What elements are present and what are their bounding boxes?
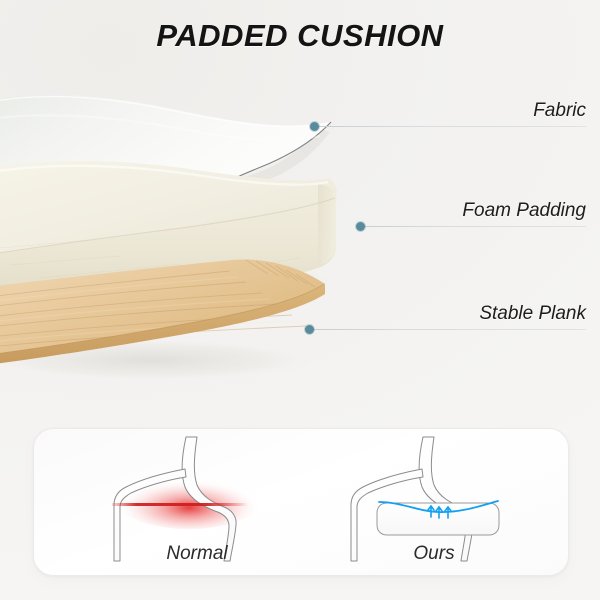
- callout-marker-dot-foam-padding: [356, 222, 365, 231]
- callout-leader-line: [314, 126, 586, 127]
- callout-marker-dot-fabric: [310, 122, 319, 131]
- callout-label-fabric: Fabric: [533, 100, 586, 122]
- callout-leader-line: [309, 329, 586, 330]
- comparison-label-normal: Normal: [166, 543, 227, 565]
- infographic-poster: PADDED CUSHION: [0, 0, 600, 600]
- comparison-card: [33, 428, 569, 576]
- callout-label-foam-padding: Foam Padding: [462, 200, 586, 222]
- callout-marker-dot-stable-plank: [305, 325, 314, 334]
- comparison-label-ours: Ours: [413, 543, 454, 565]
- page-title: PADDED CUSHION: [0, 18, 600, 54]
- callout-label-stable-plank: Stable Plank: [479, 303, 586, 325]
- callout-leader-line: [360, 226, 586, 227]
- hard-surface-line: [112, 503, 248, 506]
- exploded-product-stack: [0, 60, 600, 400]
- support-arrows: [428, 506, 451, 518]
